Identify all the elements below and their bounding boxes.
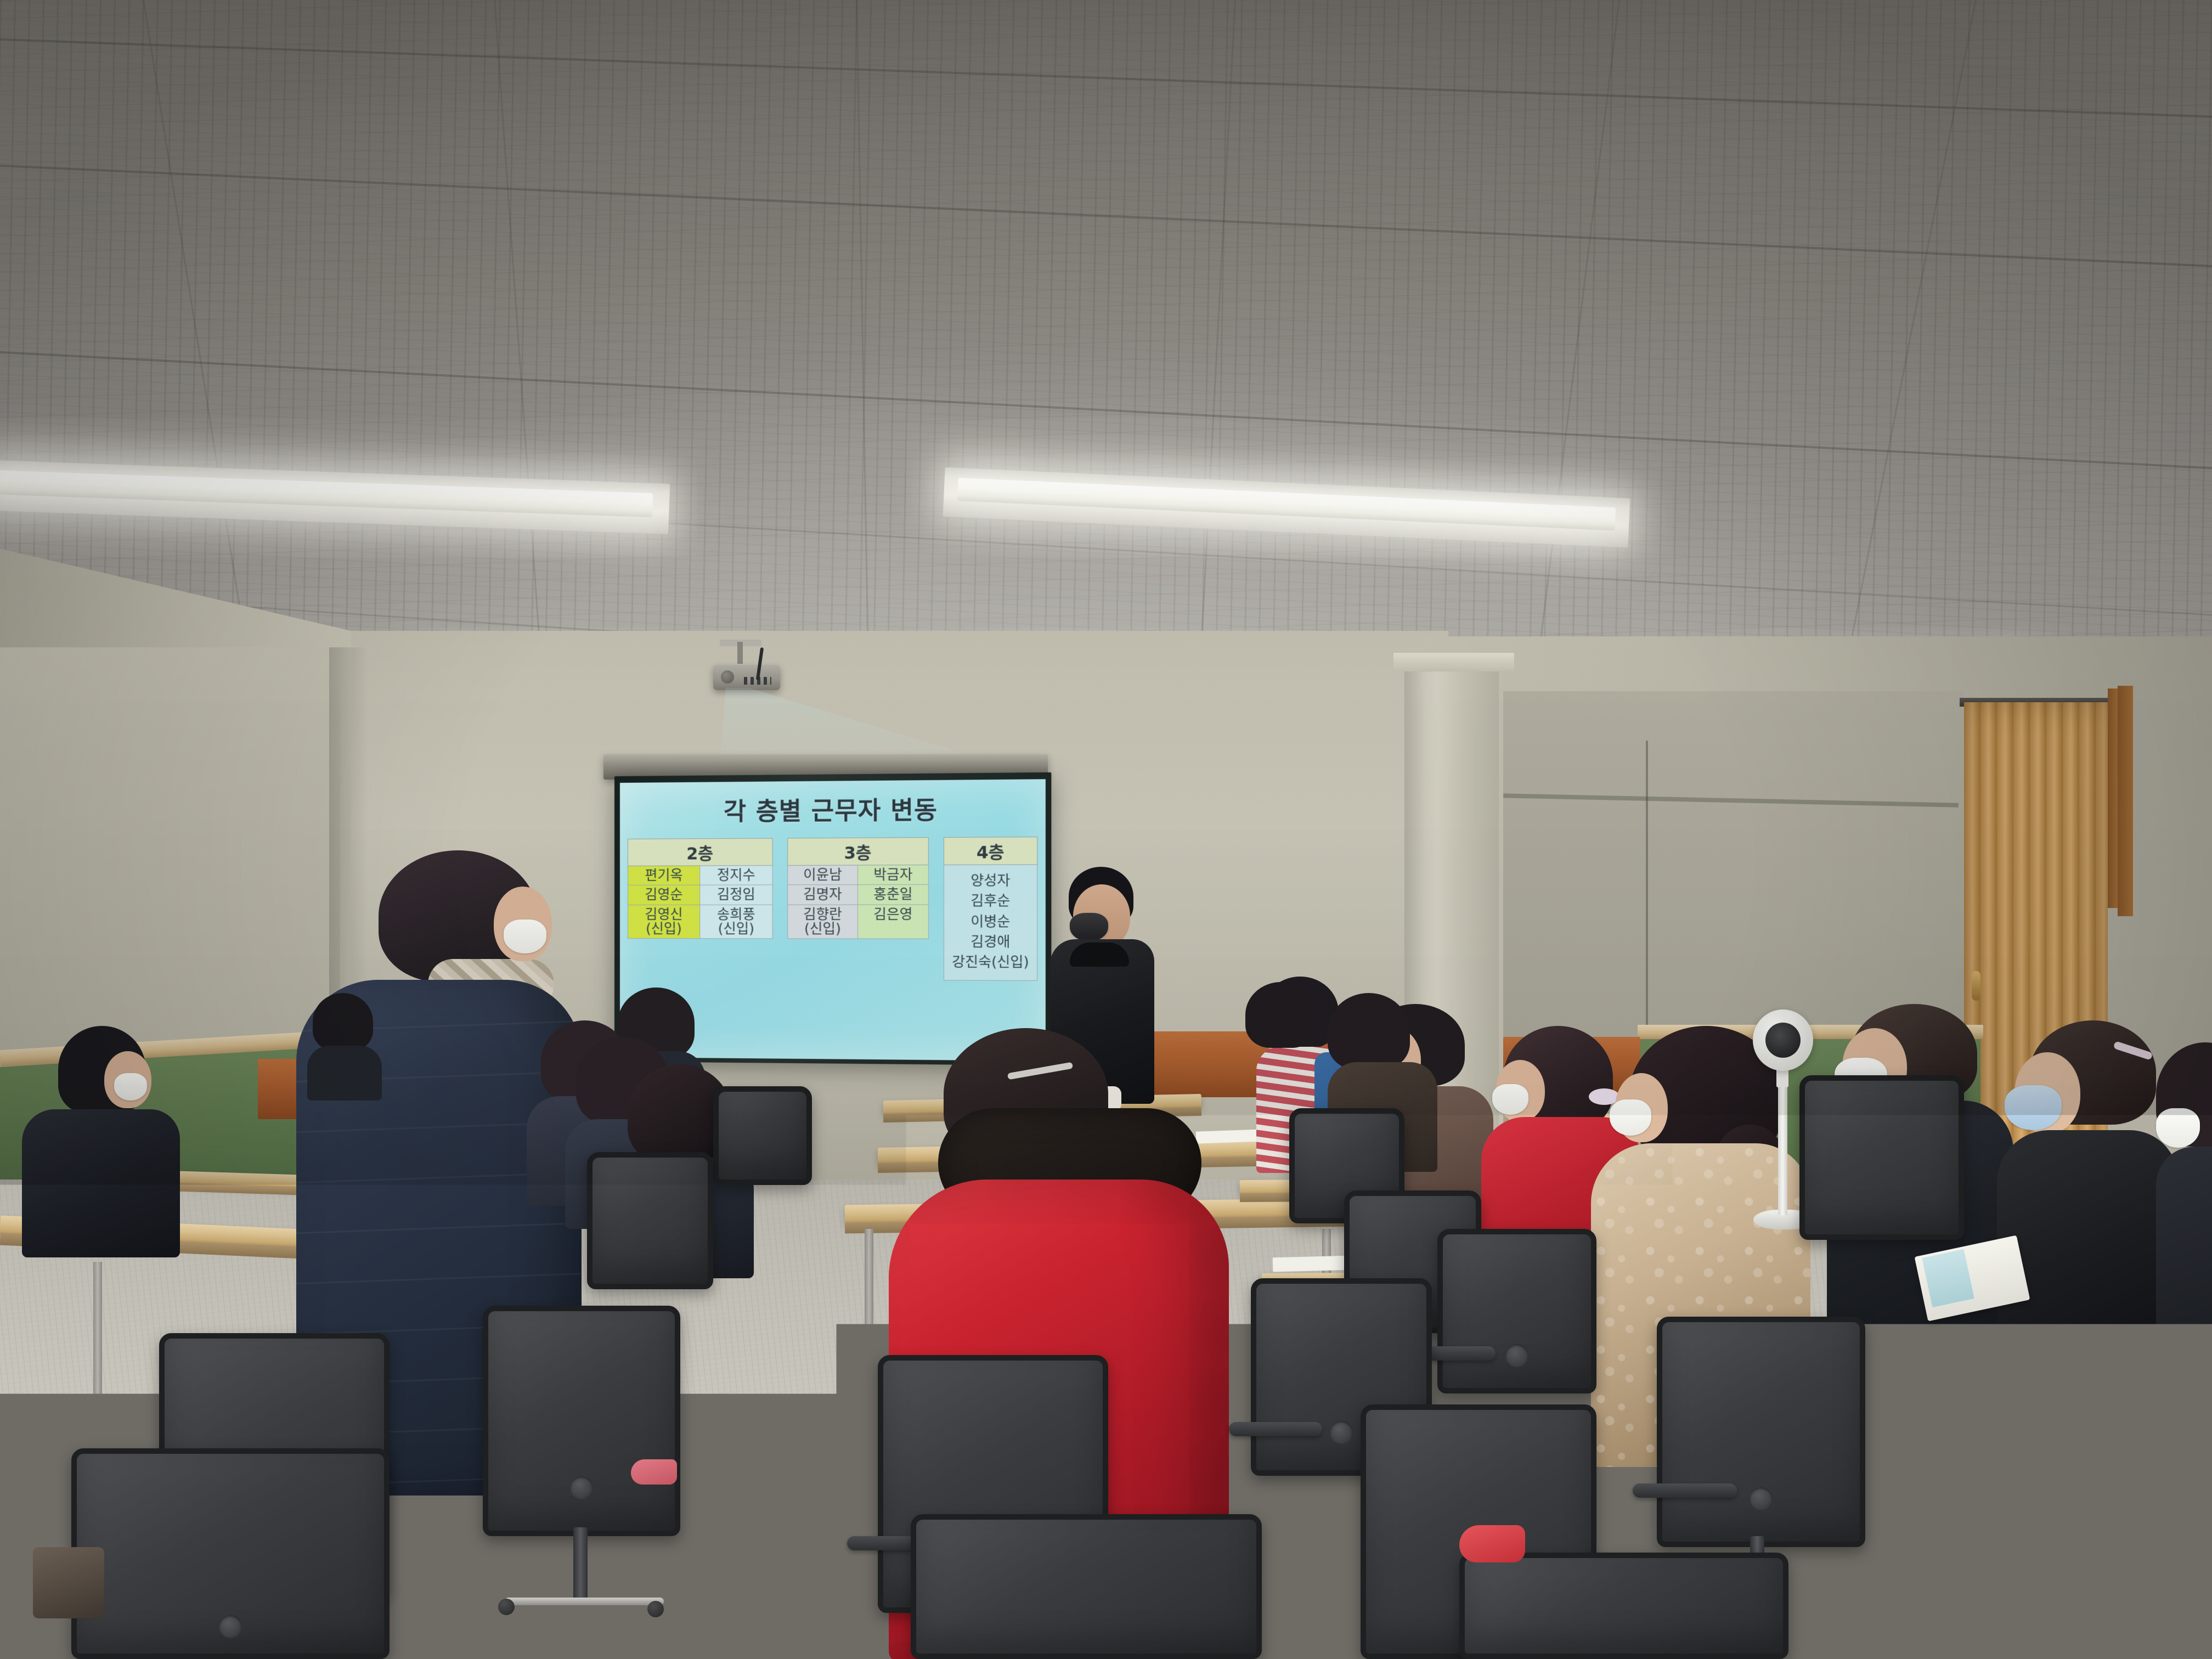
floor-table-2f-header: 2층: [628, 838, 772, 866]
chair-caster: [647, 1601, 664, 1617]
office-chair[interactable]: [1657, 1317, 1865, 1547]
wall-wood-trim: [2118, 686, 2133, 916]
chair-armrest[interactable]: [1970, 1553, 2079, 1567]
chair-back-dimple: [570, 1476, 593, 1499]
cell-3f-r2-right: 홍춘일: [857, 885, 928, 905]
projector-lens-icon: [721, 670, 734, 684]
office-chair[interactable]: [71, 1448, 390, 1659]
chair-back: [1997, 1372, 2212, 1624]
cell-3f-r3-right: 김은영: [857, 904, 928, 939]
chair-armrest[interactable]: [1229, 1422, 1322, 1436]
fan-grill-icon: [1765, 1023, 1801, 1058]
attendee-far-right-edge: [2156, 1042, 2212, 1426]
floor-item-bag[interactable]: [33, 1547, 104, 1618]
attendee-back-small-1: [307, 993, 384, 1097]
chair-back: [587, 1152, 713, 1289]
attendee-mask: [114, 1073, 147, 1101]
attendee-mask: [1610, 1099, 1651, 1136]
cell-3f-r1-left: 이윤남: [788, 865, 858, 885]
office-chair[interactable]: [1437, 1229, 1596, 1393]
cell-2f-r3-left: 김영신 (신입): [628, 905, 699, 939]
attendee-torso: [307, 1046, 382, 1101]
attendee-mask: [2156, 1108, 2200, 1148]
chair-base: [505, 1598, 664, 1605]
slide-tables: 2층 편기옥 정지수 김영순 김정임 김영신 (신입) 송희풍 (신입): [628, 837, 1037, 981]
slide-title: 각 층별 근무자 변동: [724, 790, 938, 827]
attendee-left-black-coat: [22, 1026, 187, 1256]
pink-shoe: [1887, 1613, 1940, 1643]
chair-back: [1459, 1553, 1788, 1659]
attendee-hair: [1328, 993, 1410, 1070]
floor-table-4f-header: 4층: [944, 837, 1037, 865]
office-chair[interactable]: [911, 1514, 1262, 1659]
cell-2f-r2-left: 김영순: [628, 885, 699, 905]
office-chair[interactable]: [1997, 1372, 2212, 1624]
cell-2f-r2-right: 김정임: [700, 885, 772, 905]
attendee-torso: [2156, 1147, 2212, 1410]
floor-table-3f-header: 3층: [788, 838, 929, 866]
attendee-coat: [22, 1109, 180, 1257]
cell-4f-name: 강진숙(신입): [950, 952, 1031, 973]
chair-back-dimple: [1505, 1344, 1528, 1367]
cell-3f-r3-left: 김향란 (신입): [788, 905, 858, 939]
table-leg: [93, 1262, 102, 1426]
ceiling-light-tint: [0, 0, 2212, 730]
chair-back: [483, 1306, 680, 1536]
red-croc-shoe: [1459, 1525, 1525, 1562]
cell-2f-r1-left: 편기옥: [628, 866, 699, 885]
cell-4f-name: 이병순: [950, 911, 1031, 932]
chair-armrest[interactable]: [1633, 1483, 1737, 1498]
office-chair[interactable]: [1799, 1075, 1964, 1240]
attendee-cardigan: [1997, 1130, 2178, 1361]
cell-2f-r1-right: 정지수: [700, 866, 772, 885]
chair-back-dimple: [219, 1615, 242, 1638]
attendee-hair: [313, 993, 373, 1051]
office-chair[interactable]: [1459, 1553, 1788, 1659]
chair-back: [1657, 1317, 1865, 1547]
meeting-room-scene: 각 층별 근무자 변동 2층 편기옥 정지수 김영순 김정임: [0, 0, 2212, 1659]
attendee-hair: [1245, 982, 1317, 1048]
chair-back: [713, 1086, 812, 1185]
chair-back: [911, 1514, 1262, 1659]
cell-4f-name: 양성자: [950, 871, 1031, 891]
floor-4f-name-list: 양성자 김후순 이병순 김경애 강진숙(신입): [947, 867, 1034, 979]
pink-shoe: [631, 1459, 677, 1485]
office-chair[interactable]: [483, 1306, 680, 1536]
chair-back: [1437, 1229, 1596, 1393]
standing-fan-pole: [1778, 1086, 1787, 1215]
office-chair[interactable]: [587, 1152, 713, 1289]
presenter-mask: [1070, 913, 1108, 941]
cell-3f-r2-left: 김명자: [788, 885, 858, 905]
floor-table-2f: 2층 편기옥 정지수 김영순 김정임 김영신 (신입) 송희풍 (신입): [628, 838, 773, 939]
column-soffit: [1393, 653, 1514, 672]
floor-table-4f: 4층 양성자 김후순 이병순 김경애 강진숙(신입): [944, 837, 1037, 981]
cell-2f-r3-right: 송희풍 (신입): [700, 905, 772, 939]
presenter-collar: [1070, 943, 1129, 967]
office-chair[interactable]: [713, 1086, 812, 1185]
cell-3f-r1-right: 박금자: [857, 865, 928, 885]
chair-post: [573, 1527, 588, 1604]
projector-mount-post: [737, 642, 743, 664]
floor-table-3f: 3층 이윤남 박금자 김명자 홍춘일 김향란 (신입) 김은영: [787, 837, 929, 939]
partition-handle[interactable]: [1972, 971, 1980, 1001]
attendee-mask: [504, 919, 546, 953]
chair-back-dimple: [1750, 1487, 1773, 1510]
cell-4f-name: 김경애: [950, 932, 1031, 952]
attendee-mask: [2005, 1085, 2062, 1130]
chair-caster: [498, 1599, 515, 1615]
cell-4f-name: 김후순: [950, 891, 1031, 911]
attendee-mask: [1492, 1084, 1528, 1115]
chair-back: [1799, 1075, 1964, 1240]
